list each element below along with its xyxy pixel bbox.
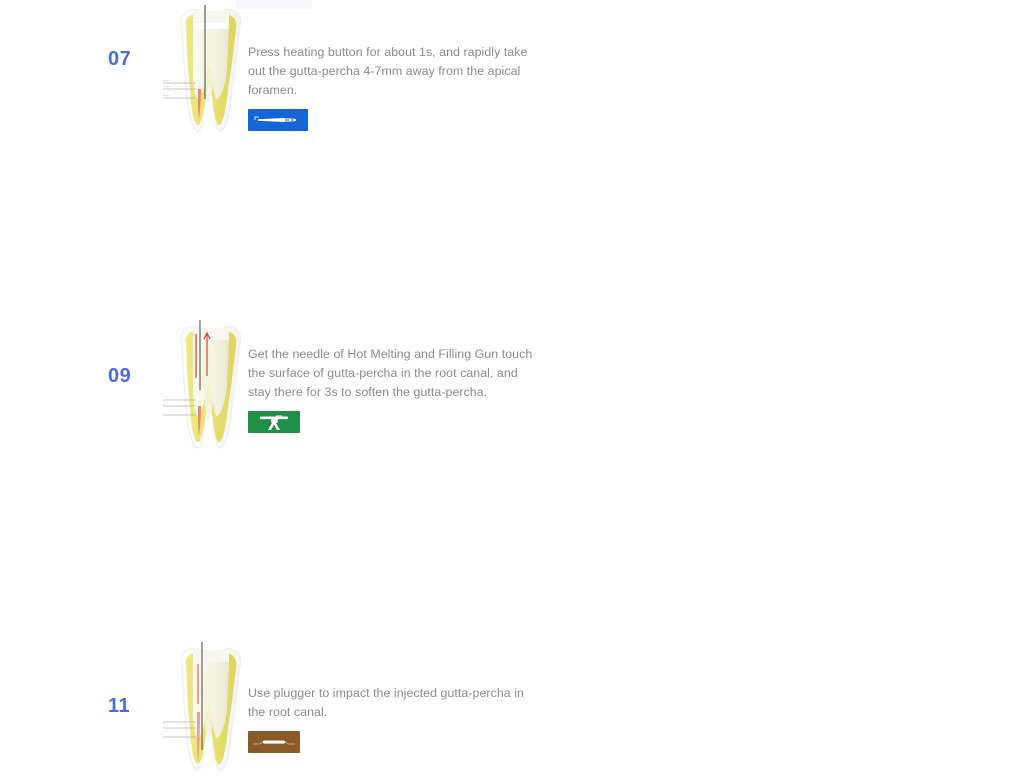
- step-number: 07: [108, 48, 131, 71]
- step-number: 11: [108, 695, 130, 718]
- svg-text:——: ——: [163, 85, 170, 89]
- tooth-illustration-07: ——————: [160, 3, 260, 143]
- steps-grid: 07: [0, 0, 1024, 459]
- step-card-07: 07: [0, 0, 512, 160]
- step-card-10: 10 Inject the melted gutta-percha into t…: [512, 160, 1024, 320]
- step-card-08: 08 Use plugger to impact the g: [512, 0, 1024, 160]
- plugger-icon: [248, 731, 300, 753]
- step-body: Use plugger to impact the injected gutta…: [248, 684, 538, 753]
- tooth-illustration-11: [160, 642, 260, 782]
- svg-text:——: ——: [163, 94, 170, 98]
- step-body: Press heating button for about 1s, and r…: [248, 43, 538, 131]
- step-card-11: 11 Use plugger to impact the i: [0, 320, 512, 459]
- svg-text:——: ——: [163, 79, 170, 83]
- step-card-09: 09: [0, 160, 512, 320]
- procedure-sheet: 07: [0, 0, 1024, 459]
- step-description: Use plugger to impact the injected gutta…: [248, 684, 538, 722]
- step-card-12: 12 Repeat Step 9 to Step 11 until the ro…: [512, 320, 1024, 459]
- heating-pen-icon: [248, 109, 308, 131]
- step-description: Press heating button for about 1s, and r…: [248, 43, 538, 100]
